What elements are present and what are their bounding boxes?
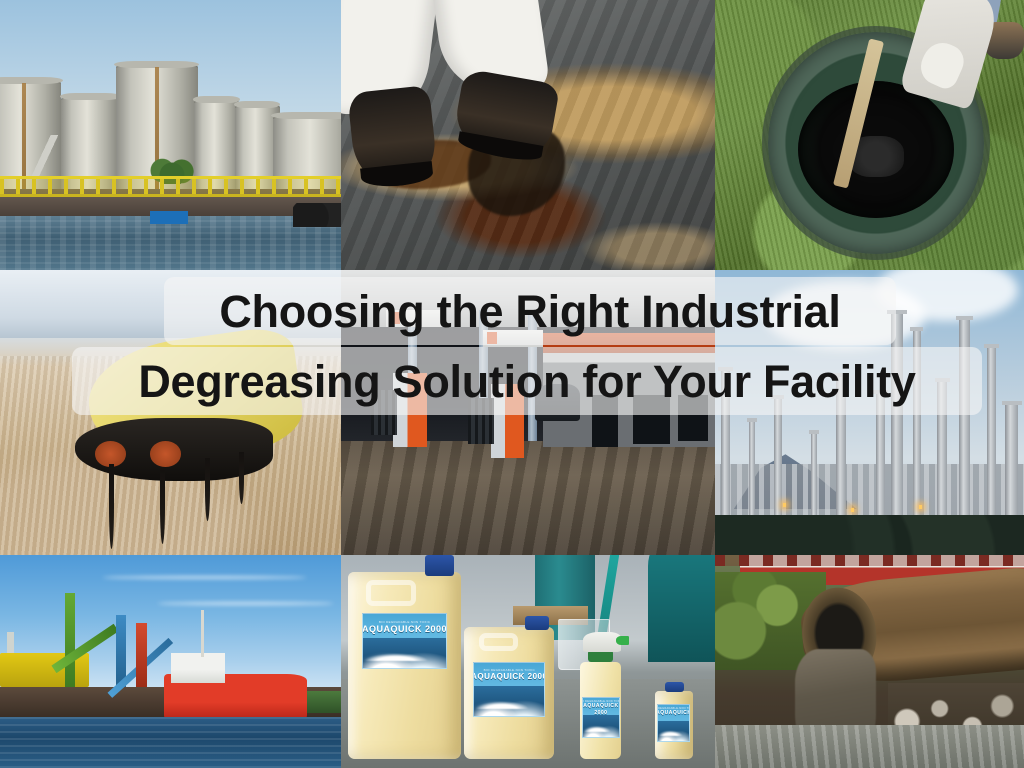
cap — [665, 682, 684, 692]
harbour-water — [0, 717, 341, 768]
plant-light — [919, 505, 922, 509]
flare-stack — [811, 430, 817, 516]
oil-drip — [205, 458, 210, 521]
refinery-plant-base — [715, 464, 1024, 521]
product-spray-bottle-1l: BIO DEGRADABLE·NON TOXIC AQUAQUICK 2000 — [580, 662, 621, 760]
tank-stairway — [7, 135, 82, 178]
product-label: BIO DEGRADABLE·NON TOXIC AQUAQUICK 2000 — [473, 662, 545, 717]
product-label: BIO DEGRADABLE·NON TOXIC AQUAQUICK 2000 — [362, 613, 447, 669]
vessel-superstructure — [171, 653, 226, 683]
rubber-boot — [347, 85, 439, 190]
moored-boat — [293, 203, 341, 227]
plant-light — [851, 508, 854, 512]
wave-artwork — [658, 721, 689, 741]
product-jerrycan-5l: BIO DEGRADABLE·NON TOXIC AQUAQUICK 2000 — [464, 627, 554, 759]
handle — [479, 633, 518, 651]
label-brand: AQUAQUICK 2000 — [583, 703, 619, 716]
manhole-opening — [798, 81, 954, 218]
forecourt-pavement — [341, 441, 715, 555]
label-kicker: BIO DEGRADABLE·NON TOXIC — [484, 668, 535, 672]
page-title-line-2: Degreasing Solution for Your Facility — [72, 347, 982, 415]
finger-tip — [150, 441, 181, 467]
finger-tip — [95, 441, 126, 467]
yellow-safety-railing — [0, 176, 341, 198]
collage-cell-oil-spill-boots — [341, 0, 715, 270]
handle — [366, 580, 415, 606]
label-brand: AQUAQUICK 2000 — [473, 672, 545, 681]
tree-line — [715, 515, 1024, 555]
background-worker — [648, 555, 715, 662]
label-brand: AQUAQUICK 2000 — [362, 624, 447, 634]
wave-artwork — [363, 638, 446, 668]
vessel-mast — [201, 610, 204, 657]
distillation-column — [959, 316, 970, 516]
collage-cell-aquaquick-products: BIO DEGRADABLE·NON TOXIC AQUAQUICK 2000 … — [341, 555, 715, 768]
product-label: BIO DEGRADABLE·NON TOXIC AQUAQUICK 2000 — [582, 697, 620, 738]
wastewater-discharge-pipe-photo — [715, 555, 1024, 768]
label-kicker: BIO DEGRADABLE·NON TOXIC — [657, 707, 690, 710]
cirrus-cloud — [157, 602, 334, 605]
label-kicker: BIO DEGRADABLE·NON TOXIC — [582, 700, 620, 703]
worker-boots-in-oil-spill-photo — [341, 0, 715, 270]
oil-tank-farm-photo — [0, 0, 341, 270]
plant-light — [783, 503, 786, 507]
receiving-stream — [715, 725, 1024, 768]
label-kicker: BIO DEGRADABLE·NON TOXIC — [379, 620, 430, 624]
green-crane-mast — [65, 593, 75, 687]
collage-cell-shipyard-port — [0, 555, 341, 768]
distillation-column — [1005, 401, 1017, 515]
trigger-sprayer-head[interactable] — [583, 632, 621, 652]
red-railing — [715, 555, 1024, 566]
shipyard-port-photo — [0, 555, 341, 768]
oil-drip — [239, 452, 244, 503]
aquaquick-product-photo: BIO DEGRADABLE·NON TOXIC AQUAQUICK 2000 … — [341, 555, 715, 768]
product-label: BIO DEGRADABLE·NON TOXIC AQUAQUICK — [657, 704, 690, 742]
page-title-line-1: Choosing the Right Industrial — [164, 277, 896, 345]
grease-trap-manhole-photo — [715, 0, 1024, 270]
cap — [425, 555, 454, 576]
flare-stack — [749, 418, 755, 515]
label-brand: AQUAQUICK — [657, 710, 690, 716]
product-jerrycan-20l: BIO DEGRADABLE·NON TOXIC AQUAQUICK 2000 — [348, 572, 460, 759]
wave-artwork — [583, 715, 619, 737]
collage-cell-wastewater-pipe — [715, 555, 1024, 768]
collage-cell-grease-trap — [715, 0, 1024, 270]
distillation-column — [987, 344, 996, 515]
red-crane-mast — [136, 623, 146, 687]
collage-cell-oil-tank-farm — [0, 0, 341, 270]
cap — [525, 616, 548, 631]
blue-barge — [150, 211, 188, 225]
wave-artwork — [474, 686, 544, 716]
product-bottle-1l: BIO DEGRADABLE·NON TOXIC AQUAQUICK — [655, 691, 692, 759]
